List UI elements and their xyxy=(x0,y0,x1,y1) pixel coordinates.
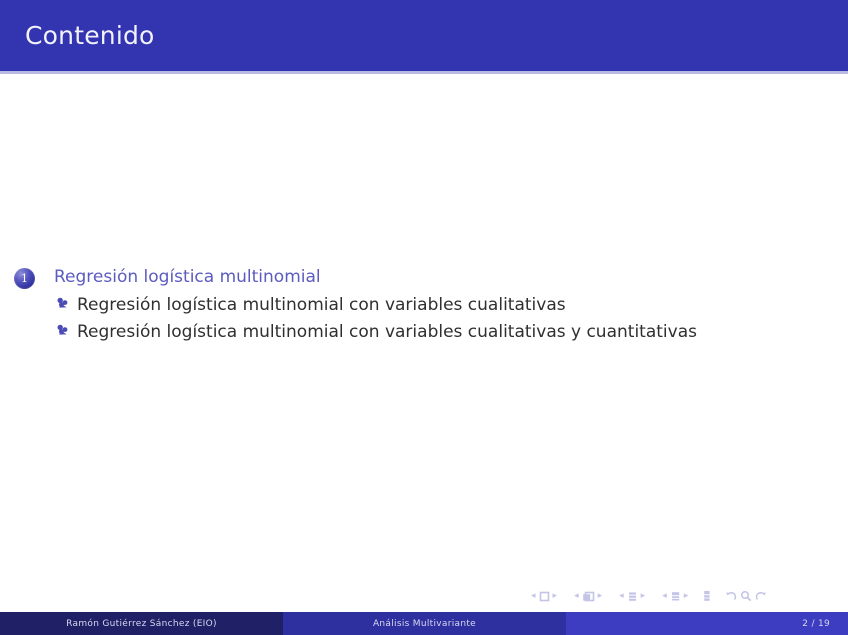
slide-icon[interactable] xyxy=(539,587,550,606)
enumerate-ball-icon: 1 xyxy=(14,268,35,289)
section-number: 1 xyxy=(14,268,35,289)
footer-author-cell: Ramón Gutiérrez Sánchez (EIO) xyxy=(0,612,283,635)
footer-page-number: 2 / 19 xyxy=(802,619,830,629)
nav-prev-section-icon[interactable]: ◂ xyxy=(659,592,670,601)
nav-group-section[interactable]: ◂ ▸ xyxy=(659,587,691,606)
nav-round-group[interactable] xyxy=(725,587,767,606)
frame-title: Contenido xyxy=(25,21,155,50)
nav-group-frame[interactable]: ◂ ▸ xyxy=(571,587,605,606)
frame-icon[interactable] xyxy=(582,587,595,606)
toc-subsection-1-2[interactable]: Regresión logística multinomial con vari… xyxy=(56,321,834,343)
slide-body: 1 Regresión logística multinomial Regres… xyxy=(0,74,848,608)
search-icon[interactable] xyxy=(740,587,752,606)
beamer-navigation-symbols[interactable]: ◂ ▸ ◂ ▸ ◂ ▸ ◂ xyxy=(528,586,767,606)
nav-prev-slide-icon[interactable]: ◂ xyxy=(528,592,539,601)
nav-group-slide[interactable]: ◂ ▸ xyxy=(528,587,560,606)
slide-footer-bar: Ramón Gutiérrez Sánchez (EIO) Análisis M… xyxy=(0,612,848,635)
footer-title-cell: Análisis Multivariante xyxy=(283,612,566,635)
toc-subsection-label: Regresión logística multinomial con vari… xyxy=(77,294,566,316)
back-arrow-icon[interactable] xyxy=(725,587,737,606)
nav-prev-frame-icon[interactable]: ◂ xyxy=(571,592,582,601)
nav-next-frame-icon[interactable]: ▸ xyxy=(595,592,606,601)
section-icon[interactable] xyxy=(670,587,681,606)
nav-prev-subsection-icon[interactable]: ◂ xyxy=(616,592,627,601)
toc-subsection-1-1[interactable]: Regresión logística multinomial con vari… xyxy=(56,294,834,316)
nav-next-slide-icon[interactable]: ▸ xyxy=(550,592,561,601)
nav-next-subsection-icon[interactable]: ▸ xyxy=(638,592,649,601)
footer-page-cell: 2 / 19 xyxy=(566,612,848,635)
footer-title: Análisis Multivariante xyxy=(373,619,476,629)
nav-next-section-icon[interactable]: ▸ xyxy=(681,592,692,601)
subsection-icon[interactable] xyxy=(627,587,638,606)
presentation-icon[interactable] xyxy=(702,590,712,602)
club-bullet-icon xyxy=(56,323,69,341)
toc-subsection-label: Regresión logística multinomial con vari… xyxy=(77,321,697,343)
table-of-contents: 1 Regresión logística multinomial Regres… xyxy=(14,266,834,343)
toc-section-label: Regresión logística multinomial xyxy=(54,266,321,288)
club-bullet-icon xyxy=(56,296,69,314)
toc-section-1[interactable]: 1 Regresión logística multinomial xyxy=(14,266,834,289)
nav-group-subsection[interactable]: ◂ ▸ xyxy=(616,587,648,606)
footer-author: Ramón Gutiérrez Sánchez (EIO) xyxy=(66,619,217,629)
forward-arrow-icon[interactable] xyxy=(755,587,767,606)
